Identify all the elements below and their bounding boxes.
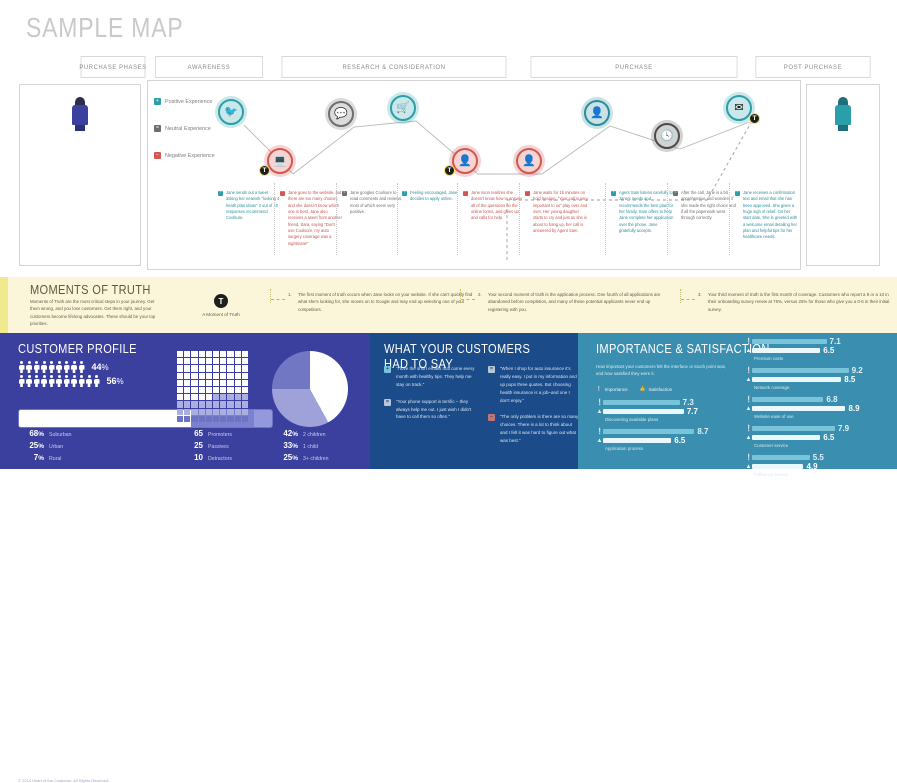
nps-cell [213,373,219,379]
infographic-page: SAMPLE MAP PURCHASE PHASESAWARENESSRESEA… [0,0,897,469]
nps-cell [213,394,219,400]
importance-satisfaction-panel: IMPORTANCE & SATISFACTION How important … [578,333,897,469]
quote-1: −“The only problem is there are so many … [488,413,580,445]
bar-group-2: ❕6.8▲8.9Website ease of use [745,396,890,419]
nps-cell [242,409,248,415]
annotation-7: =After the call, Jane is a bit apprehens… [673,190,736,222]
bar-value: 7.3 [683,398,694,407]
nps-cell [184,409,190,415]
bar-line-imp: ❕8.7 [596,428,736,435]
quotes-column-right: =“When I shop for auto insurance it's re… [488,365,580,454]
nps-cell [220,365,226,371]
nps-cell [177,365,183,371]
person-icon [48,361,55,373]
reviews-touchpoint[interactable]: 💬 [328,101,354,127]
nps-cell [177,351,183,357]
nps-cell [177,394,183,400]
nps-cell [199,401,205,407]
nps-cell [184,358,190,364]
gender-row-1: 56% [18,375,124,387]
phase-label: POST PURCHASE [784,64,842,71]
annotation-sentiment-icon: = [673,191,678,196]
nps-cell [220,380,226,386]
gender-percent: 44% [92,362,109,372]
stat-label: 2 children [303,432,326,438]
stat-number: 42% [272,429,298,438]
stat-label: Suburban [49,432,72,438]
annotation-divider [457,183,458,255]
person-icon [63,361,70,373]
satisfaction-icon: ▲ [596,409,603,415]
nps-cell [242,373,248,379]
nps-cell [227,380,233,386]
nps-cell [235,365,241,371]
nps-cell [206,387,212,393]
moments-of-truth-title: MOMENTS OF TRUTH [30,282,151,297]
nps-cell [242,401,248,407]
nps-cell [227,365,233,371]
bar-imp [752,426,835,432]
nps-cell [235,373,241,379]
people-icons [18,375,101,387]
importance-icon: ❕ [596,429,603,435]
nps-cell [199,394,205,400]
bar-group-1: ❕9.2▲8.5Network coverage [745,367,890,390]
person-icon [71,375,78,387]
bar-line-imp: ❕7.9 [745,425,890,432]
nps-cell [191,351,197,357]
nps-cell [227,387,233,393]
annotation-sentiment-icon: + [735,191,740,196]
nps-cell [199,373,205,379]
satisfaction-subtitle: How important your customers felt the in… [596,363,731,378]
nps-cell [206,351,212,357]
bar-group-4: ❕5.5▲4.9Follow-up service [745,454,890,477]
agent-touchpoint-icon: 👤 [590,108,604,119]
stat-number: 25 [177,441,203,450]
stat-row: 25Passives [177,441,232,450]
email-touchpoint-icon: ✉ [734,103,743,114]
nps-cell [242,351,248,357]
satisfaction-icon: 👍 [640,386,646,392]
nps-cell [220,416,226,422]
nps-cell [191,387,197,393]
person-icon [33,375,40,387]
moments-of-truth-band: MOMENTS OF TRUTH Moments of Truth are th… [0,277,897,333]
nps-cell [213,351,219,357]
annotation-divider [605,183,606,255]
person-icon [56,361,63,373]
annotation-text: Jane receives a confirmation text and em… [743,190,798,241]
laptop-touchpoint[interactable]: 💻T [267,148,293,174]
bar-value: 9.2 [852,366,863,375]
stat-row: 42%2 children [272,429,329,438]
nps-cell [213,387,219,393]
nps-cell [242,387,248,393]
nps-cell [227,373,233,379]
bar-imp [752,397,823,403]
moment-dots [460,289,461,303]
annotation-5: −Jane waits for 15 minutes on hold heari… [525,190,588,234]
nps-cell [206,394,212,400]
person-icon [86,375,93,387]
importance-icon: ❕ [745,455,752,461]
email-touchpoint[interactable]: ✉T [726,95,752,121]
nps-cell [220,401,226,407]
stat-number: 33% [272,441,298,450]
annotation-sentiment-icon: + [218,191,223,196]
bar-label: Follow-up service [754,472,890,477]
nps-cell [184,387,190,393]
moments-of-truth-description: Moments of Truth are the most critical s… [30,298,165,328]
importance-icon: ❕ [745,397,752,403]
nps-cell [177,380,183,386]
gender-percent: 56% [107,376,124,386]
nps-cell [199,358,205,364]
satisfaction-title: IMPORTANCE & SATISFACTION [596,341,770,356]
stat-number: 65 [177,429,203,438]
nps-cell [199,387,205,393]
moment-text: Your second moment of truth is the appli… [488,291,670,313]
phase-1: AWARENESS [155,56,263,78]
satisfaction-icon: ▲ [745,377,752,383]
nps-cell [235,358,241,364]
bar-line-sat: ▲8.9 [745,405,890,412]
nps-cell [191,394,197,400]
nps-cell [199,416,205,422]
phase-label: RESEARCH & CONSIDERATION [342,64,445,71]
bar-group-0: ❕7.1▲6.5Premium costs [745,338,890,361]
satisfaction-icon: ▲ [745,435,752,441]
bar-label: Network coverage [754,385,890,390]
bar-value: 8.7 [697,427,708,436]
moment-of-truth-badge: T [444,165,455,176]
nps-cell [235,401,241,407]
phase-2: RESEARCH & CONSIDERATION [282,56,507,78]
annotation-sentiment-icon: − [280,191,285,196]
nps-cell [177,358,183,364]
nps-cell [177,401,183,407]
children-pie-chart [272,351,348,427]
wait-clock-touchpoint[interactable]: 🕓 [654,123,680,149]
bar-line-imp: ❕7.1 [745,338,890,345]
nps-cell [213,416,219,422]
nps-cell [191,416,197,422]
persona-avatar-jane [28,93,132,139]
annotation-2: =Jane googles Coolsure to read comments … [342,190,405,215]
person-icon [18,361,25,373]
stat-number: 25% [18,441,44,450]
bar-value: 4.9 [806,462,817,471]
quote-1: =“Your phone support is terrific – they … [384,398,476,422]
quote-text: “The only problem is there are so many c… [500,413,580,445]
bar-line-imp: ❕5.5 [745,454,890,461]
stat-row: 7%Rural [18,453,72,462]
nps-cell [213,365,219,371]
customer-profile-panel: CUSTOMER PROFILE 44%56% 68%Suburban25%Ur… [0,333,370,469]
annotation-text: Jane goes to the website, but there are … [288,190,343,247]
annotation-divider [519,183,520,255]
annotation-sentiment-icon: + [611,191,616,196]
annotation-sentiment-icon: = [342,191,347,196]
bar-sat [752,377,841,383]
person-icon [78,375,85,387]
laptop-touchpoint-icon: 💻 [273,156,287,167]
annotation-sentiment-icon: + [402,191,407,196]
stat-number: 10 [177,453,203,462]
nps-cell [199,351,205,357]
moment-dash [681,299,695,300]
persona-panel-left [19,84,141,266]
nps-cell [213,409,219,415]
bar-line-imp: ❕9.2 [745,367,890,374]
nps-cell [191,365,197,371]
sat-legend-label: Satisfaction [648,387,672,392]
stat-number: 7% [18,453,44,462]
nps-cell [206,358,212,364]
quote-sentiment-icon: − [488,414,495,421]
sat-legend-item-1: 👍Satisfaction [640,386,672,392]
person-icon [56,375,63,387]
satisfaction-icon: ▲ [745,406,752,412]
person-icon [93,375,100,387]
annotation-text: Jane soon realizes she doesn't know how … [471,190,526,222]
nps-cell [235,351,241,357]
annotation-divider [397,183,398,255]
stat-row: 10Detractors [177,453,232,462]
people-icons [18,361,86,373]
bar-line-sat: ▲6.5 [745,347,890,354]
annotation-text: After the call, Jane is a bit apprehensi… [681,190,736,222]
stat-label: 1 child [303,444,318,450]
person-icon [63,375,70,387]
nps-cell [184,380,190,386]
bar-value: 6.5 [823,433,834,442]
nps-cell [242,380,248,386]
nps-cell [191,358,197,364]
annotation-divider [274,183,275,255]
person-icon [41,375,48,387]
nps-cell [242,358,248,364]
bar-sat [752,348,820,354]
call-center-touchpoint[interactable]: 👤T [452,148,478,174]
annotation-sentiment-icon: − [463,191,468,196]
annotation-text: Jane waits for 15 minutes on hold hearin… [533,190,588,234]
annotation-sentiment-icon: − [525,191,530,196]
nps-cell [220,351,226,357]
phase-label: PURCHASE [615,64,653,71]
bar-line-sat: ▲8.5 [745,376,890,383]
phone-hold-touchpoint-icon: 👤 [522,156,536,167]
phase-4: POST PURCHASE [755,56,870,78]
person-icon [48,375,55,387]
bar-imp [603,400,680,406]
phase-label: AWARENESS [188,64,231,71]
nps-cell [220,387,226,393]
stat-label: Passives [208,444,229,450]
children-stats: 42%2 children33%1 child25%3+ children [272,429,329,465]
moment-of-truth-item-0: 1.The first moment of truth occurs when … [288,291,480,313]
moment-of-truth-badge-icon: T [214,294,228,308]
satisfaction-icon: ▲ [745,348,752,354]
annotation-4: −Jane soon realizes she doesn't know how… [463,190,526,222]
cart-touchpoint[interactable]: 🛒 [390,95,416,121]
nps-cell [235,380,241,386]
annotation-8: +Jane receives a confirmation text and e… [735,190,798,241]
moment-dash [271,299,285,300]
nps-cell [177,373,183,379]
stat-row: 33%1 child [272,441,329,450]
nps-cell [220,394,226,400]
bar-imp [752,368,849,374]
nps-cell [235,416,241,422]
moment-number: 3. [698,291,708,313]
moment-text: Your third moment of truth is the first … [708,291,890,313]
phase-0: PURCHASE PHASES [81,56,146,78]
moment-of-truth-item-1: 2.Your second moment of truth is the app… [478,291,670,313]
person-icon [41,361,48,373]
quote-text: “When I shop for auto insurance it's rea… [500,365,580,404]
nps-cell [184,394,190,400]
satisfaction-bars-left: ❕7.3▲7.7Discovering available plans❕8.7▲… [596,399,736,457]
nps-cell [184,373,190,379]
person-icon [33,361,40,373]
twitter-touchpoint-icon: 🐦 [224,107,238,118]
bar-sat [603,409,684,415]
nps-cell [184,416,190,422]
twitter-touchpoint[interactable]: 🐦 [218,99,244,125]
moment-of-truth-item-2: 3.Your third moment of truth is the firs… [698,291,890,313]
stat-label: 3+ children [303,456,329,462]
quote-text: “I love the short emails that come every… [396,365,476,389]
bar-sat [603,438,671,444]
moment-of-truth-badge: T [259,165,270,176]
bar-sat [752,406,845,412]
quote-sentiment-icon: = [384,399,391,406]
phase-label: PURCHASE PHASES [79,64,146,71]
nps-cell [220,409,226,415]
bar-value: 6.5 [674,436,685,445]
wait-clock-touchpoint-icon: 🕓 [660,131,674,142]
stat-row: 25%Urban [18,441,72,450]
annotation-text: Jane sends out a tweet asking her networ… [226,190,281,222]
nps-cell [199,365,205,371]
nps-cell [227,358,233,364]
stat-row: 25%3+ children [272,453,329,462]
persona-panel-right [806,84,880,266]
bar-label: Premium costs [754,356,890,361]
nps-cell [177,416,183,422]
nps-cell [220,373,226,379]
phone-hold-touchpoint[interactable]: 👤 [516,148,542,174]
agent-touchpoint[interactable]: 👤 [584,100,610,126]
nps-cell [227,394,233,400]
gender-row-0: 44% [18,361,124,373]
person-icon [26,375,33,387]
nps-cell [206,365,212,371]
person-icon [71,361,78,373]
nps-cell [191,380,197,386]
annotation-divider [336,183,337,255]
nps-cell [184,351,190,357]
quote-0: =“When I shop for auto insurance it's re… [488,365,580,404]
importance-icon: ❕ [596,400,603,406]
nps-cell [191,373,197,379]
geography-segment-0 [19,410,191,427]
nps-cell [235,387,241,393]
moment-dash [461,299,475,300]
nps-cell [242,416,248,422]
nps-cell [206,409,212,415]
bar-value: 5.5 [813,453,824,462]
stat-label: Rural [49,456,61,462]
quote-0: +“I love the short emails that come ever… [384,365,476,389]
bar-line-sat: ▲6.5 [596,437,736,444]
sat-legend-label: Importance [605,387,628,392]
stat-label: Urban [49,444,63,450]
bar-value: 8.9 [848,404,859,413]
geography-segment-2 [254,410,272,427]
nps-cell [242,365,248,371]
bar-value: 6.8 [826,395,837,404]
sat-legend-item-0: ❕Importance [596,386,628,392]
nps-cell [206,373,212,379]
stat-label: Detractors [208,456,232,462]
bar-value: 8.5 [844,375,855,384]
importance-icon: ❕ [745,339,752,345]
stat-number: 25% [272,453,298,462]
nps-cell [235,394,241,400]
bar-line-imp: ❕7.3 [596,399,736,406]
nps-cell [177,409,183,415]
annotation-3: +Feeling encouraged, Jane decides to app… [402,190,465,203]
bar-imp [752,339,827,345]
annotation-divider [667,183,668,255]
phase-3: PURCHASE [531,56,738,78]
customer-profile-title: CUSTOMER PROFILE [18,341,137,356]
nps-cell [199,409,205,415]
bar-imp [752,455,810,461]
reviews-touchpoint-icon: 💬 [334,109,348,120]
nps-cell [199,380,205,386]
nps-cell [227,401,233,407]
nps-cell [184,401,190,407]
bar-group-1: ❕8.7▲6.5Application process [596,428,736,451]
quotes-column-left: +“I love the short emails that come ever… [384,365,476,430]
bar-value: 7.7 [687,407,698,416]
quote-sentiment-icon: + [384,366,391,373]
importance-icon: ❕ [745,368,752,374]
annotation-1: −Jane goes to the website, but there are… [280,190,343,247]
quote-sentiment-icon: = [488,366,495,373]
satisfaction-bars-right: ❕7.1▲6.5Premium costs❕9.2▲8.5Network cov… [745,338,890,483]
nps-cell [206,401,212,407]
stat-number: 68% [18,429,44,438]
importance-icon: ❕ [745,426,752,432]
bar-group-0: ❕7.3▲7.7Discovering available plans [596,399,736,422]
moment-of-truth-badge: T [749,113,760,124]
moment-of-truth-key: T A Moment of Truth [191,294,251,317]
bar-imp [603,429,694,435]
person-icon [26,361,33,373]
satisfaction-legend: ❕Importance👍Satisfaction [596,386,672,392]
moment-number: 1. [288,291,298,313]
moment-dots [270,289,271,303]
nps-cell [227,416,233,422]
nps-cell [206,380,212,386]
moment-number: 2. [478,291,488,313]
gender-split: 44%56% [18,361,124,389]
